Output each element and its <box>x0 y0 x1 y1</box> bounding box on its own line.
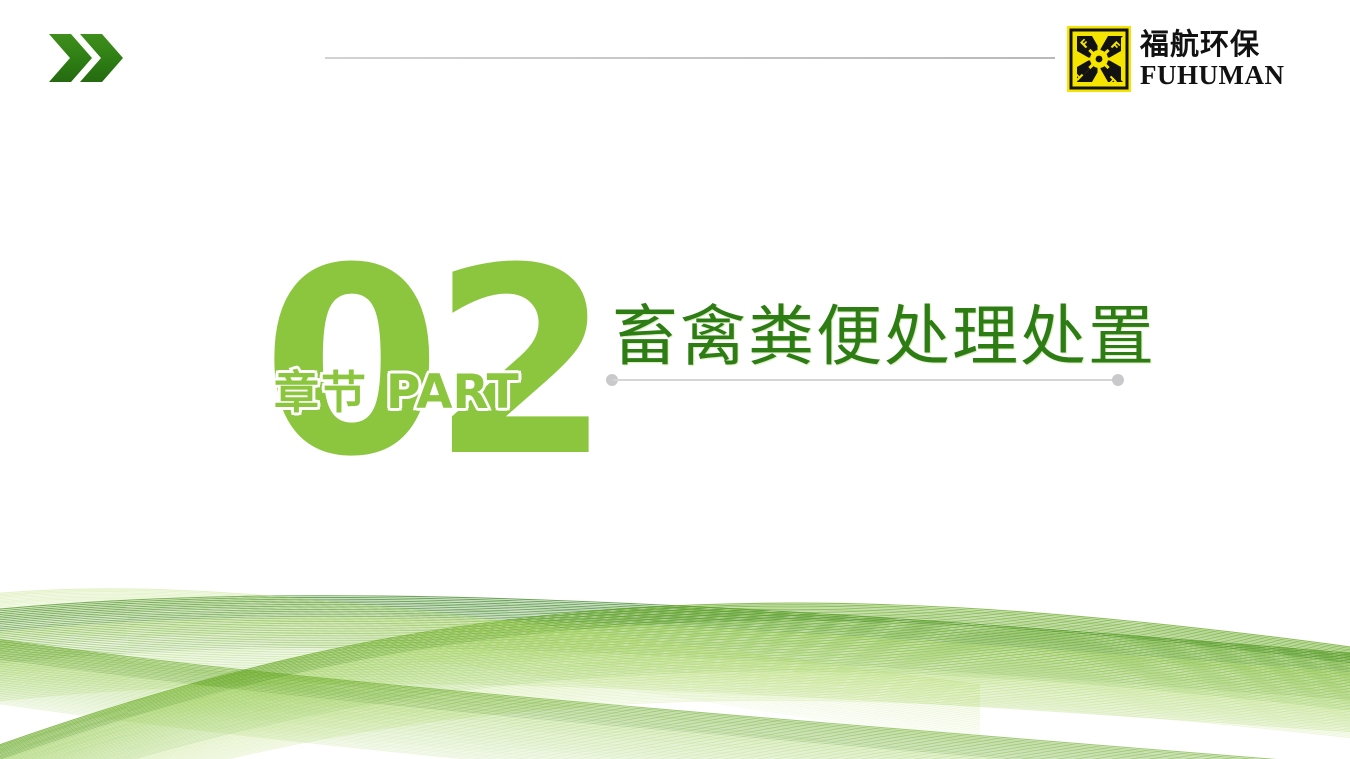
fuhuman-pinwheel-logo-icon: F F F F <box>1067 26 1131 92</box>
slide-header: F F F F <box>0 0 1350 110</box>
section-kicker-cn: 章节 <box>274 356 368 421</box>
title-underline-rule <box>606 373 1124 387</box>
brand-logo: F F F F <box>1067 26 1284 92</box>
section-kicker: 章节 PART <box>274 356 519 421</box>
brand-name-cn: 福航环保 <box>1140 29 1284 59</box>
brand-wordmark: 福航环保 FUHUMAN <box>1140 26 1284 92</box>
section-kicker-en: PART <box>386 365 519 420</box>
underline-line <box>613 379 1117 381</box>
green-ribbon-wave-decoration <box>0 559 1350 759</box>
slide-canvas: F F F F <box>0 0 1350 759</box>
header-divider-rule <box>325 57 1055 59</box>
section-number-block: 02 章节 PART <box>262 248 547 478</box>
section-title: 畜禽粪便处理处置 <box>612 283 1156 379</box>
brand-name-en: FUHUMAN <box>1140 61 1284 89</box>
double-chevron-right-icon <box>47 33 125 83</box>
underline-dot-right <box>1112 374 1124 386</box>
